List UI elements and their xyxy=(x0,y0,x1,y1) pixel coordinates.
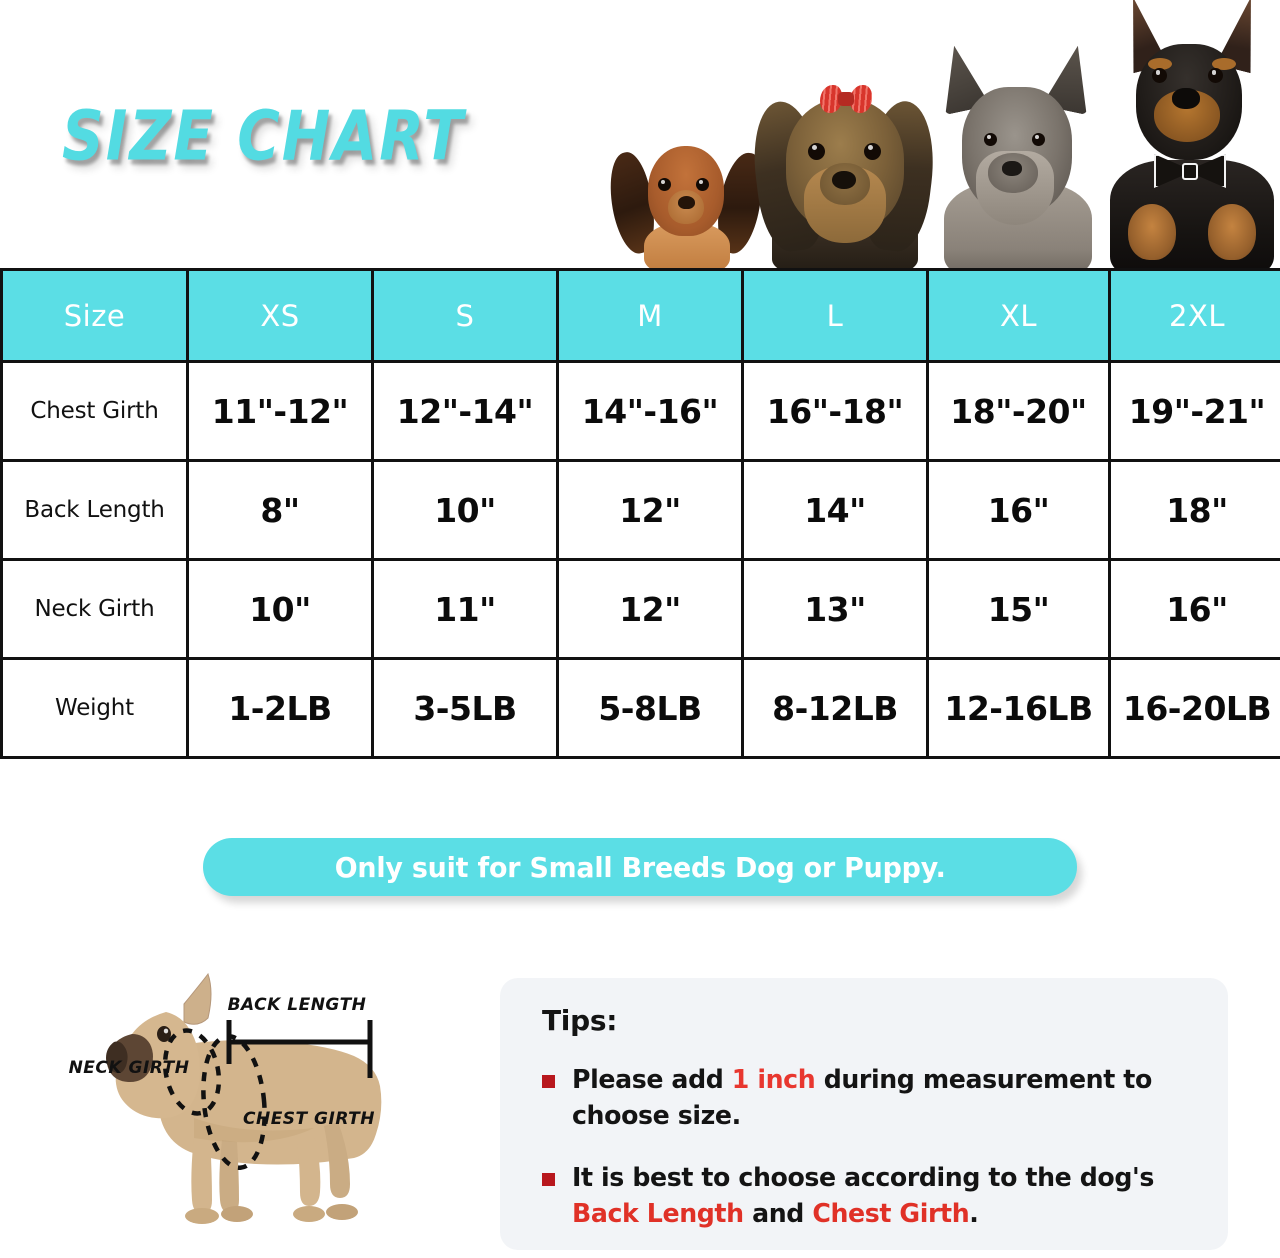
bowtie-knot xyxy=(1182,163,1198,180)
yorkie-nose xyxy=(832,171,856,189)
cell-chest-girth-m: 14"-16" xyxy=(558,362,743,461)
cairn-eye-right xyxy=(1032,133,1045,146)
column-header-2xl: 2XL xyxy=(1110,270,1280,362)
cell-back-length-2xl: 18" xyxy=(1110,461,1280,560)
cell-chest-girth-s: 12"-14" xyxy=(373,362,558,461)
column-header-size: Size xyxy=(2,270,188,362)
cell-back-length-xl: 16" xyxy=(928,461,1110,560)
dog-photo-dachshund xyxy=(616,140,756,270)
pinscher-eye-right xyxy=(1208,68,1223,83)
cell-weight-s: 3-5LB xyxy=(373,659,558,758)
table-row-neck-girth: Neck Girth 10" 11" 12" 13" 15" 16" xyxy=(2,560,1280,659)
row-label-chest-girth: Chest Girth xyxy=(2,362,188,461)
table-row-weight: Weight 1-2LB 3-5LB 5-8LB 8-12LB 12-16LB … xyxy=(2,659,1280,758)
cell-back-length-xs: 8" xyxy=(188,461,373,560)
tip-item-2: It is best to choose according to the do… xyxy=(542,1161,1198,1233)
pinscher-eye-left xyxy=(1152,68,1167,83)
cell-neck-girth-s: 11" xyxy=(373,560,558,659)
tip-2-part-3: and xyxy=(744,1199,813,1229)
dachshund-eye-right xyxy=(696,178,709,191)
cell-weight-m: 5-8LB xyxy=(558,659,743,758)
bullet-square-icon xyxy=(542,1075,555,1088)
cell-back-length-l: 14" xyxy=(743,461,928,560)
yorkie-red-bow xyxy=(820,85,872,113)
tips-heading: Tips: xyxy=(542,1004,1198,1037)
cell-weight-xl: 12-16LB xyxy=(928,659,1110,758)
size-chart-table: Size XS S M L XL 2XL Chest Girth 11"-12"… xyxy=(0,268,1280,759)
tip-1-highlight-inch: 1 inch xyxy=(732,1065,816,1095)
table-row-chest-girth: Chest Girth 11"-12" 12"-14" 14"-16" 16"-… xyxy=(2,362,1280,461)
column-header-l: L xyxy=(743,270,928,362)
tip-2-part-1: It is best to choose according to the do… xyxy=(572,1163,1154,1193)
tip-2-highlight-chest-girth: Chest Girth xyxy=(812,1199,969,1229)
cell-back-length-m: 12" xyxy=(558,461,743,560)
column-header-xs: XS xyxy=(188,270,373,362)
yorkie-eye-right xyxy=(864,143,881,160)
cell-chest-girth-xl: 18"-20" xyxy=(928,362,1110,461)
tip-text-2: It is best to choose according to the do… xyxy=(572,1161,1179,1233)
dog-photo-miniature-pinscher xyxy=(1102,2,1280,270)
row-label-weight: Weight xyxy=(2,659,188,758)
tip-2-part-5: . xyxy=(969,1199,978,1229)
small-breeds-banner: Only suit for Small Breeds Dog or Puppy. xyxy=(203,838,1077,896)
row-label-neck-girth: Neck Girth xyxy=(2,560,188,659)
tip-item-1: Please add 1 inch during measurement to … xyxy=(542,1063,1198,1135)
dachshund-nose xyxy=(678,196,695,209)
pinscher-tan-marking-left xyxy=(1128,204,1176,260)
page-title: SIZE CHART xyxy=(62,96,532,176)
cell-neck-girth-xl: 15" xyxy=(928,560,1110,659)
cairn-eye-left xyxy=(984,133,997,146)
dog-photo-cairn-terrier xyxy=(932,35,1100,270)
pinscher-bow-tie xyxy=(1154,154,1226,188)
neck-girth-label: NECK GIRTH xyxy=(69,1058,190,1078)
measurement-diagram-svg: BACK LENGTH NECK GIRTH CHEST GIRTH xyxy=(44,968,464,1258)
measurement-diagram: BACK LENGTH NECK GIRTH CHEST GIRTH xyxy=(44,968,464,1258)
dog-photo-yorkshire-terrier xyxy=(758,75,930,270)
table-header-row: Size XS S M L XL 2XL xyxy=(2,270,1280,362)
table-row-back-length: Back Length 8" 10" 12" 14" 16" 18" xyxy=(2,461,1280,560)
yorkie-eye-left xyxy=(808,143,825,160)
chest-girth-label: CHEST GIRTH xyxy=(243,1109,375,1129)
tip-2-highlight-back-length: Back Length xyxy=(572,1199,744,1229)
cell-neck-girth-m: 12" xyxy=(558,560,743,659)
cell-chest-girth-2xl: 19"-21" xyxy=(1110,362,1280,461)
dog-photo-strip xyxy=(608,0,1280,270)
tip-text-1: Please add 1 inch during measurement to … xyxy=(572,1063,1179,1135)
cell-weight-2xl: 16-20LB xyxy=(1110,659,1280,758)
cell-neck-girth-l: 13" xyxy=(743,560,928,659)
cell-neck-girth-2xl: 16" xyxy=(1110,560,1280,659)
column-header-m: M xyxy=(558,270,743,362)
column-header-xl: XL xyxy=(928,270,1110,362)
dachshund-eye-left xyxy=(658,178,671,191)
pinscher-tan-marking-right xyxy=(1208,204,1256,260)
tips-panel: Tips: Please add 1 inch during measureme… xyxy=(500,978,1228,1250)
cell-neck-girth-xs: 10" xyxy=(188,560,373,659)
cell-chest-girth-xs: 11"-12" xyxy=(188,362,373,461)
title-block: SIZE CHART xyxy=(62,96,532,166)
small-breeds-banner-text: Only suit for Small Breeds Dog or Puppy. xyxy=(335,851,946,884)
tip-1-part-1: Please add xyxy=(572,1065,732,1095)
pinscher-nose xyxy=(1172,88,1200,109)
row-label-back-length: Back Length xyxy=(2,461,188,560)
back-length-label: BACK LENGTH xyxy=(228,995,367,1015)
column-header-s: S xyxy=(373,270,558,362)
bow-knot xyxy=(838,92,854,106)
cell-chest-girth-l: 16"-18" xyxy=(743,362,928,461)
cell-back-length-s: 10" xyxy=(373,461,558,560)
cell-weight-l: 8-12LB xyxy=(743,659,928,758)
bullet-square-icon xyxy=(542,1173,555,1186)
cell-weight-xs: 1-2LB xyxy=(188,659,373,758)
cairn-nose xyxy=(1002,161,1022,176)
